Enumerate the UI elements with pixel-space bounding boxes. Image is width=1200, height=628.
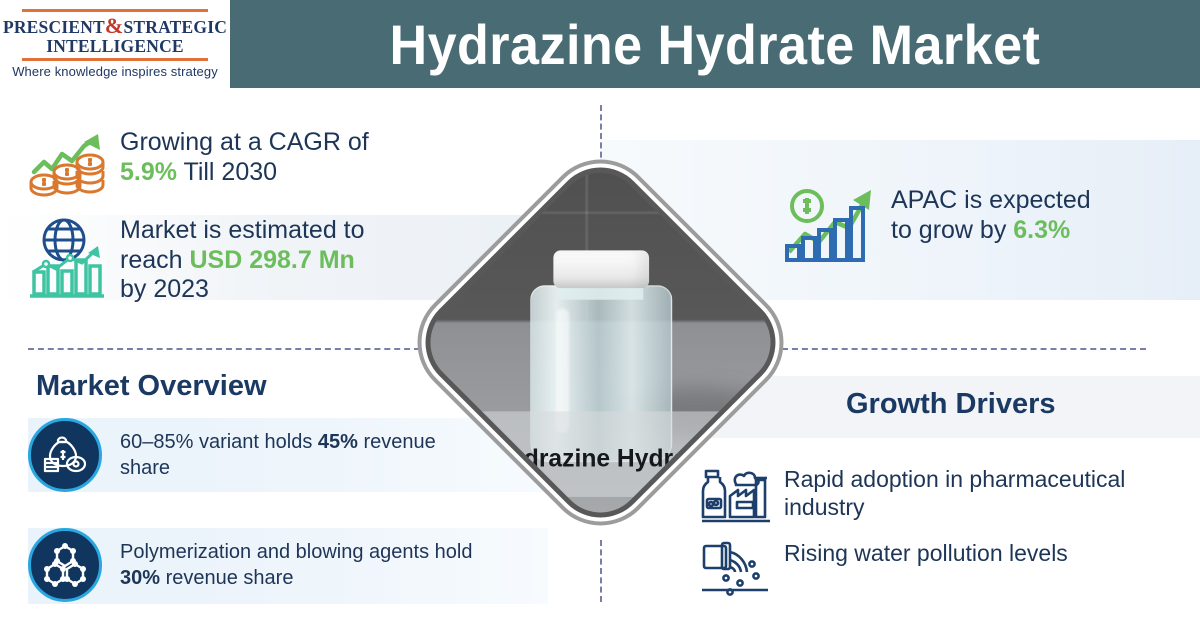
mo2-lead: Polymerization and blowing agents hold: [120, 541, 472, 563]
coins-growth-arrow-icon: [28, 128, 106, 200]
stat-market-size-line3: by 2023: [120, 275, 365, 305]
stat-apac-text: APAC is expected to grow by 6.3%: [891, 186, 1091, 245]
growth-driver-item-1-text: Rapid adoption in pharmaceutical industr…: [784, 466, 1200, 521]
company-logo: PRESCIENT&STRATEGIC INTELLIGENCE Where k…: [0, 0, 230, 88]
logo-tagline: Where knowledge inspires strategy: [12, 64, 218, 79]
market-overview-item-2-text: Polymerization and blowing agents hold 3…: [120, 539, 490, 591]
stat-apac-line1: APAC is expected: [891, 186, 1091, 216]
logo-ampersand: &: [105, 13, 124, 38]
stat-market-size-lead: reach: [120, 246, 189, 274]
center-visual: Hydrazine Hydrate: [413, 155, 787, 529]
stat-apac: APAC is expected to grow by 6.3%: [785, 186, 1091, 264]
stat-cagr-value: 5.9%: [120, 158, 177, 186]
growth-driver-item-2-text: Rising water pollution levels: [784, 540, 1068, 568]
logo-line-2: INTELLIGENCE: [46, 37, 184, 56]
stat-market-size-value: USD 298.7 Mn: [189, 246, 354, 274]
money-bag-icon: [28, 418, 102, 492]
stat-market-size-line1: Market is estimated to: [120, 216, 365, 246]
mo1-value: 45%: [318, 431, 358, 453]
stat-cagr-line2: 5.9% Till 2030: [120, 158, 369, 188]
mo1-lead: 60–85% variant holds: [120, 431, 318, 453]
stat-apac-lead: to grow by: [891, 216, 1013, 244]
molecule-icon: [28, 528, 102, 602]
stat-cagr-line2-rest: Till 2030: [177, 158, 277, 186]
water-pollution-icon: [700, 540, 772, 598]
header-bar: Hydrazine Hydrate Market: [230, 0, 1200, 88]
mo2-tail: revenue share: [160, 567, 293, 589]
photo-tile-line-h: [413, 211, 788, 214]
logo-line-1: PRESCIENT&STRATEGIC: [3, 14, 227, 37]
market-overview-item-2: Polymerization and blowing agents hold 3…: [28, 528, 490, 602]
diamond-frame: Hydrazine Hydrate: [413, 155, 788, 530]
page-title: Hydrazine Hydrate Market: [390, 12, 1041, 77]
stat-market-size-text: Market is estimated to reach USD 298.7 M…: [120, 216, 365, 305]
center-visual-caption: Hydrazine Hydrate: [413, 444, 788, 473]
stat-market-size: Market is estimated to reach USD 298.7 M…: [28, 216, 365, 305]
stat-market-size-line2: reach USD 298.7 Mn: [120, 246, 365, 276]
bottle-cap: [552, 250, 648, 288]
divider-vertical-bottom: [600, 540, 602, 602]
growth-driver-item-2: Rising water pollution levels: [700, 540, 1068, 598]
heading-growth-drivers: Growth Drivers: [846, 388, 1056, 421]
logo-word-strategic: STRATEGIC: [123, 17, 227, 37]
logo-rule-bottom: [22, 58, 208, 61]
stat-cagr-line1: Growing at a CAGR of: [120, 128, 369, 158]
stat-apac-line2: to grow by 6.3%: [891, 216, 1091, 246]
dollar-bar-chart-arrow-icon: [785, 186, 877, 264]
infographic-canvas: PRESCIENT&STRATEGIC INTELLIGENCE Where k…: [0, 0, 1200, 628]
globe-bar-chart-icon: [28, 216, 106, 302]
stat-cagr-text: Growing at a CAGR of 5.9% Till 2030: [120, 128, 369, 187]
stat-cagr: Growing at a CAGR of 5.9% Till 2030: [28, 128, 369, 200]
product-photo: Hydrazine Hydrate: [413, 155, 788, 530]
mo2-value: 30%: [120, 567, 160, 589]
stat-apac-value: 6.3%: [1013, 216, 1070, 244]
heading-market-overview: Market Overview: [36, 370, 267, 403]
divider-horizontal-right: [782, 348, 1146, 350]
divider-horizontal-left: [28, 348, 420, 350]
diamond-photo-container: Hydrazine Hydrate: [413, 155, 788, 530]
logo-rule-top: [22, 9, 208, 12]
logo-word-prescient: PRESCIENT: [3, 17, 105, 37]
